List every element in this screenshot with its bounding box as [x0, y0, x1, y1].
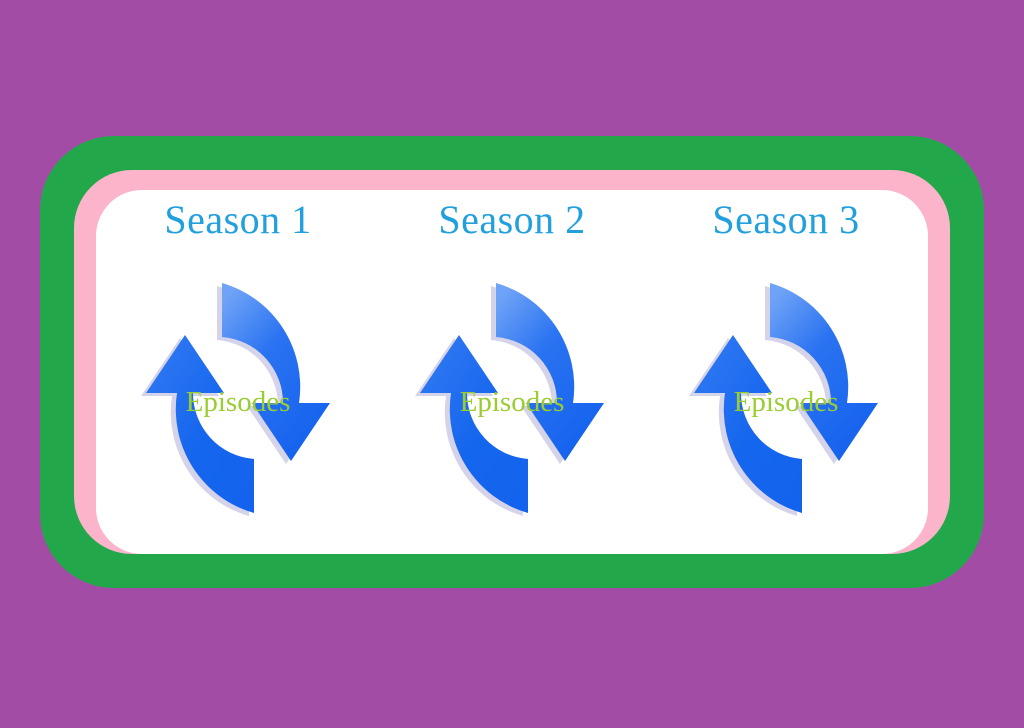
- cycle-arrows-diagram: [659, 272, 913, 524]
- cycle-arrows-diagram: [385, 272, 639, 524]
- season-label: Season 3: [650, 196, 922, 243]
- upper-right-arc-arrow: [222, 283, 330, 461]
- cycle-group-season-2: Season 2: [376, 190, 648, 554]
- season-label: Season 2: [376, 196, 648, 243]
- cycle-arrows-diagram: [111, 272, 365, 524]
- cycle-group-season-1: Season 1: [102, 190, 374, 554]
- lower-left-arc-arrow: [146, 335, 254, 513]
- cycle-row: Season 1: [96, 190, 928, 554]
- cycle-group-season-3: Season 3: [650, 190, 922, 554]
- lower-left-arc-arrow: [420, 335, 528, 513]
- diagram-canvas: Season 1: [0, 0, 1024, 728]
- lower-left-arc-arrow: [694, 335, 802, 513]
- season-label: Season 1: [102, 196, 374, 243]
- upper-right-arc-arrow: [496, 283, 604, 461]
- upper-right-arc-arrow: [770, 283, 878, 461]
